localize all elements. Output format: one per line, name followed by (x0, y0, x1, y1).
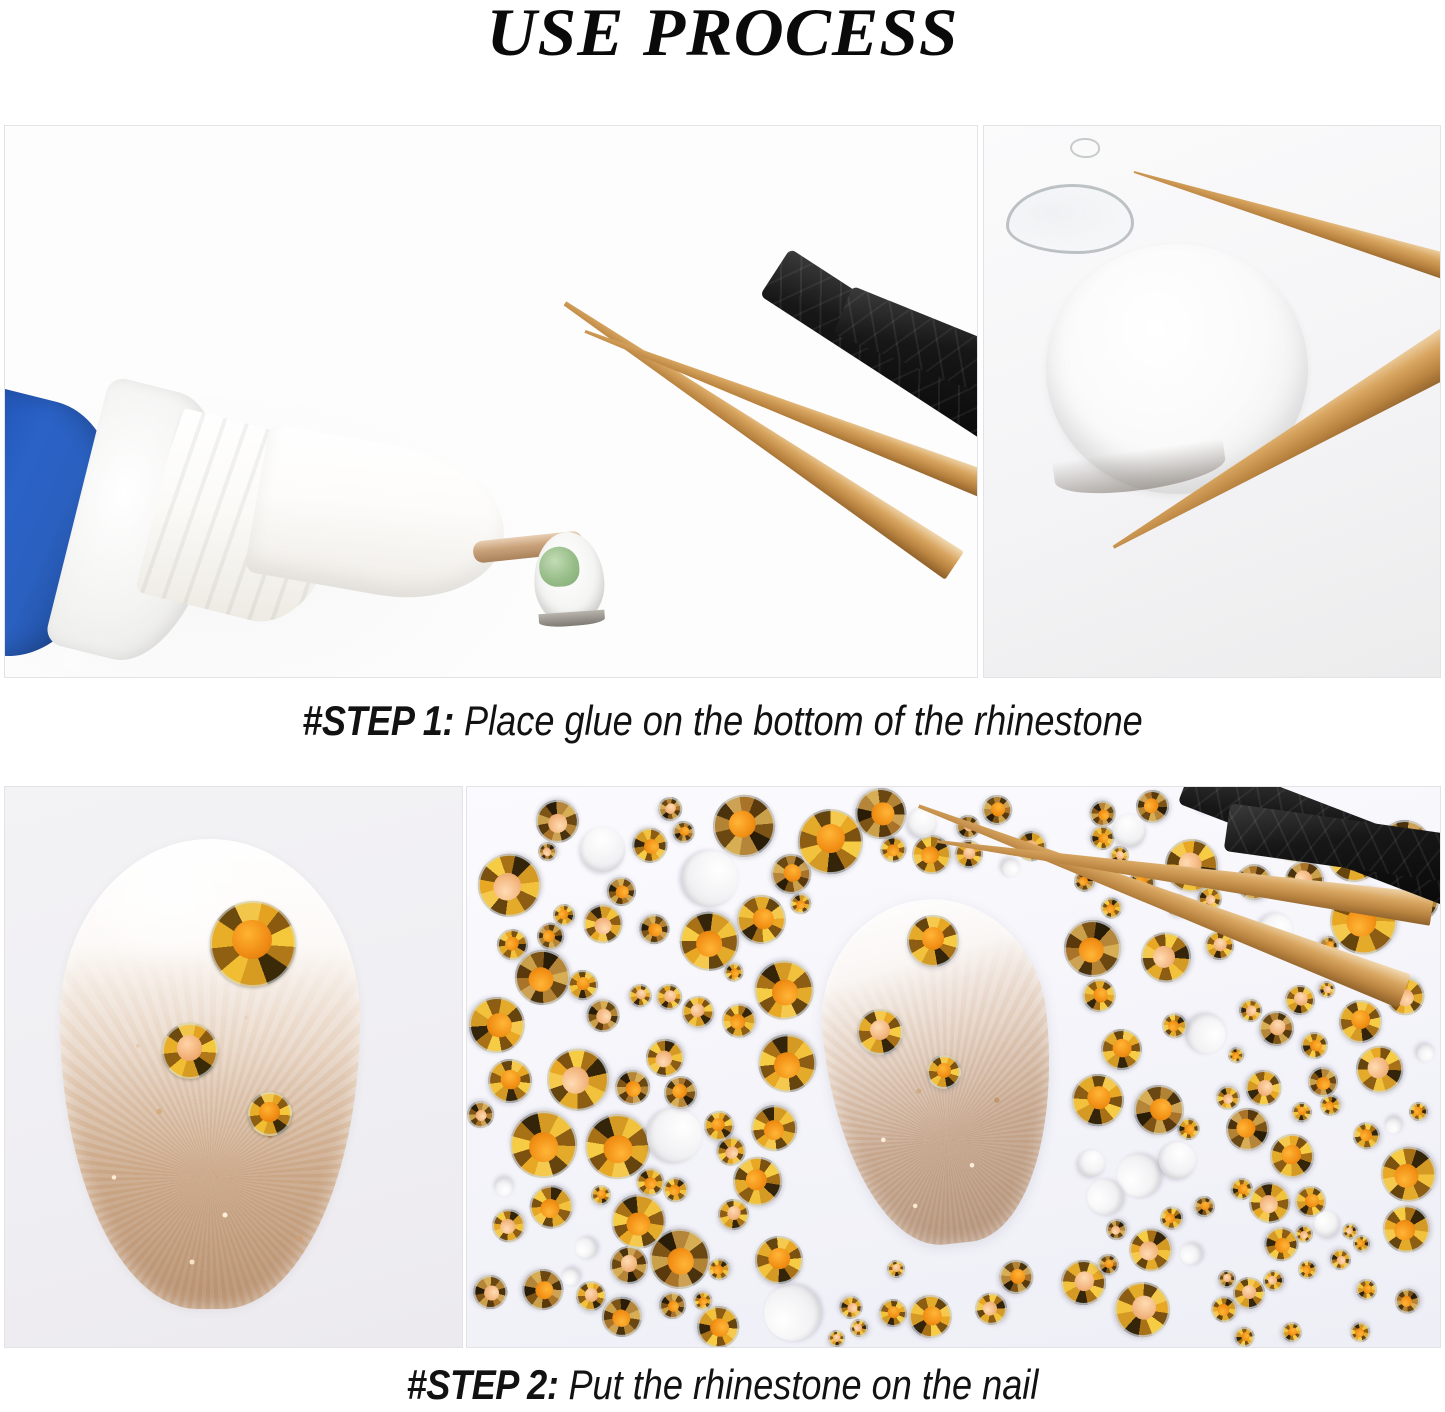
rhinestone (509, 1111, 577, 1179)
rhinestone (1376, 1200, 1436, 1260)
rhinestone-flat-back (643, 1104, 705, 1166)
glue-droplet-small (1070, 138, 1100, 158)
step-1-label: #STEP 1: (302, 697, 454, 744)
rhinestone (1295, 1225, 1313, 1243)
rhinestone (1317, 980, 1337, 1000)
rhinestone (584, 905, 623, 944)
rhinestone (730, 888, 793, 951)
rhinestone (1078, 974, 1120, 1016)
rhinestone (534, 797, 582, 845)
rhinestone (575, 1279, 608, 1312)
rhinestone (482, 1053, 540, 1111)
rhinestone-flat-back (996, 854, 1023, 881)
rhinestone (521, 1177, 581, 1237)
rhinestone (609, 1246, 647, 1284)
rhinestone (1101, 1215, 1130, 1244)
rhinestone-on-nail (927, 1055, 961, 1089)
rhinestone (748, 1101, 802, 1155)
rhinestone (1096, 894, 1125, 923)
rhinestone (1392, 1286, 1424, 1318)
rhinestone-flat-back (761, 1281, 824, 1344)
rhinestone (1245, 1070, 1281, 1106)
step-2-caption: #STEP 2: Put the rhinestone on the nail (101, 1361, 1344, 1409)
rhinestone (1289, 1098, 1316, 1125)
rhinestone-flat-back (1178, 1006, 1234, 1062)
rhinestone (1158, 1205, 1186, 1233)
step-1-text: Place glue on the bottom of the rhinesto… (454, 697, 1143, 744)
rhinestone (1406, 1099, 1432, 1125)
nail-rhinestone-medium (162, 1023, 218, 1079)
rhinestone (1062, 1064, 1134, 1136)
rhinestone (1053, 908, 1133, 988)
rhinestone (520, 1267, 566, 1313)
rhinestone (950, 835, 987, 872)
rhinestone (790, 893, 811, 914)
rhinestone (1226, 1045, 1246, 1065)
rhinestone (1104, 1271, 1181, 1348)
rhinestone-scatter-nail-photo (466, 786, 1441, 1348)
rhinestone (847, 1317, 870, 1340)
rhinestone-flat-back (574, 1235, 598, 1259)
rhinestone (627, 821, 675, 869)
rhinestone (976, 789, 1018, 831)
rhinestone (1338, 999, 1384, 1045)
rhinestone-flat-back (1178, 1241, 1203, 1266)
rhinestone (1351, 1120, 1382, 1151)
rhinestone (904, 1289, 958, 1343)
rhinestone (1136, 926, 1197, 987)
rhinestone (826, 1327, 848, 1348)
rhinestone (1349, 1322, 1370, 1343)
rhinestone (624, 980, 656, 1012)
rhinestone (1326, 1245, 1356, 1275)
rhinestone (1215, 1085, 1241, 1111)
step-2-text: Put the rhinestone on the nail (558, 1361, 1038, 1408)
rhinestone-flat-back (1382, 1114, 1404, 1136)
page-title: USE PROCESS (0, 0, 1445, 68)
rhinestone-glue-closeup-photo (983, 125, 1441, 678)
glue-droplet (1006, 184, 1134, 254)
rhinestone (992, 1253, 1040, 1301)
rhinestone (1262, 1127, 1321, 1186)
rhinestone (1371, 1137, 1441, 1211)
rhinestone (1354, 1277, 1380, 1303)
rhinestone (466, 1096, 499, 1133)
rhinestone (469, 1270, 513, 1314)
rhinestone (1190, 1191, 1219, 1220)
rhinestone (754, 1030, 822, 1098)
rhinestone (1305, 1064, 1341, 1100)
rhinestone-flat-back (493, 1176, 514, 1197)
use-process-infographic: USE PROCESS #STEP 1: Place glue on the b… (0, 0, 1445, 1412)
rhinestone (751, 1231, 807, 1287)
finished-nail-photo (4, 786, 463, 1348)
rhinestone-flat-back (572, 819, 633, 880)
rhinestone (1346, 1037, 1412, 1103)
rhinestone (634, 909, 674, 949)
rhinestone-flat-back (676, 846, 741, 911)
rhinestone (653, 1287, 691, 1325)
rhinestone (485, 1202, 531, 1248)
nail-rhinestone-large (210, 901, 296, 987)
press-on-nail (60, 839, 360, 1309)
step-2-label: #STEP 2: (407, 1361, 559, 1408)
rhinestone (466, 994, 527, 1055)
rhinestone (1094, 1022, 1148, 1076)
rhinestone (545, 1047, 610, 1112)
rhinestone-flat-back (1412, 1041, 1436, 1065)
rhinestone (1278, 1319, 1305, 1346)
rhinestone (678, 992, 718, 1032)
rhinestone (591, 1184, 612, 1205)
nail-rhinestone-small (248, 1092, 292, 1136)
rhinestone (1298, 1030, 1329, 1061)
rhinestone (670, 818, 697, 845)
glue-bottle-tweezers-photo (4, 125, 978, 678)
rhinestone (973, 1291, 1009, 1327)
rhinestone (750, 955, 819, 1024)
rhinestone-on-nail (907, 915, 959, 967)
rhinestone (610, 1064, 657, 1111)
rhinestone (884, 1258, 907, 1281)
rhinestone (1233, 1326, 1256, 1348)
rhinestone-flat-back (1116, 1151, 1162, 1197)
rhinestone-on-nail (857, 1009, 903, 1055)
rhinestone (718, 1000, 761, 1043)
rhinestone (835, 1291, 867, 1323)
rhinestone-flat-back (1073, 1145, 1111, 1183)
rhinestone (873, 1294, 912, 1333)
step-1-caption: #STEP 1: Place glue on the bottom of the… (101, 697, 1344, 745)
rhinestone (1296, 1258, 1318, 1280)
